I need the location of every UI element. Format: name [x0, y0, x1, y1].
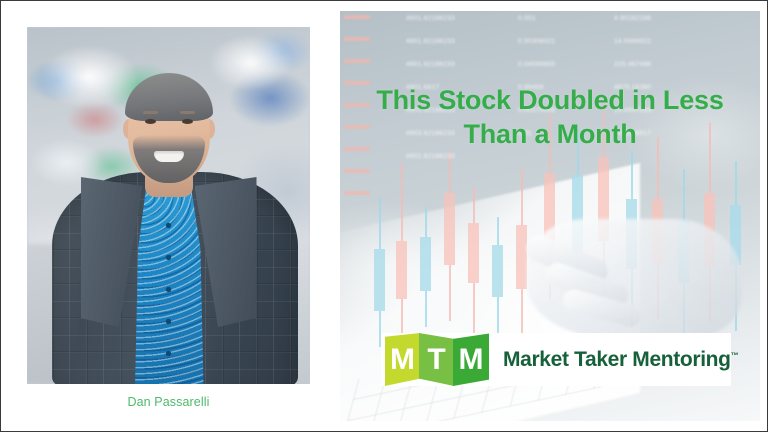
candle-body [468, 223, 479, 283]
logo-letter-t: T [419, 333, 454, 386]
candlestick [492, 217, 503, 343]
brand-logo: M T M Market Taker Mentoring™ [381, 333, 731, 386]
candle-body [492, 245, 503, 297]
data-table-cell: 4901.62186233 [406, 61, 518, 68]
hair [125, 73, 213, 121]
data-table-cell: 0.04599855 [518, 61, 614, 68]
eye-right [182, 119, 193, 124]
brand-wordmark: Market Taker Mentoring™ [503, 348, 738, 372]
logo-letter-m1: M [385, 333, 420, 386]
headline-text: This Stock Doubled in Less Than a Month [362, 83, 738, 151]
data-table-row: 4901.62186233 [406, 153, 706, 176]
data-table-cell: 14.9999922 [614, 38, 706, 45]
eyebrow-right [180, 111, 195, 114]
mouth [154, 151, 184, 162]
data-table-cell: 0.001 [518, 15, 614, 22]
candle-body [420, 237, 431, 291]
data-table-row: 4901.621862330.0014.90162186 [406, 15, 706, 38]
logo-letter-m2: M [453, 333, 489, 386]
eyebrow-left [143, 111, 158, 114]
candlestick [420, 207, 431, 327]
data-table-cell: 4901.62186233 [406, 15, 518, 22]
speaker-panel: Dan Passarelli [1, 1, 331, 431]
data-table-cell: 4901.62186233 [406, 153, 518, 160]
eye-left [145, 119, 156, 124]
candle-body [374, 249, 385, 311]
speaker-name-caption: Dan Passarelli [27, 395, 310, 409]
candlestick [468, 187, 479, 337]
data-table-cell: 4901.62186233 [406, 38, 518, 45]
trademark-icon: ™ [731, 351, 739, 360]
candlestick [444, 151, 455, 321]
promo-panel: 4901.621862330.0014.901621864901.6218623… [340, 11, 760, 421]
data-table-row: 4901.621862330.0030602114.9999922 [406, 38, 706, 61]
data-table-cell: 225.467498 [614, 61, 706, 68]
candle-body [444, 193, 455, 265]
candle-body [396, 241, 407, 299]
candlestick [396, 163, 407, 343]
data-table-cell: 4.90162186 [614, 15, 706, 22]
speaker-figure [27, 27, 310, 384]
candlestick [374, 197, 385, 347]
brand-wordmark-text: Market Taker Mentoring [503, 348, 731, 371]
data-table-cell: 0.00306021 [518, 38, 614, 45]
presentation-slide: Dan Passarelli 4901.621862330.0014.90162… [0, 0, 768, 432]
mtm-logo-mark: M T M [385, 333, 489, 386]
candlestick [516, 169, 527, 337]
candle-body [516, 225, 527, 289]
data-table-row: 4901.621862330.04599855225.467498 [406, 61, 706, 84]
speaker-photo [27, 27, 310, 384]
